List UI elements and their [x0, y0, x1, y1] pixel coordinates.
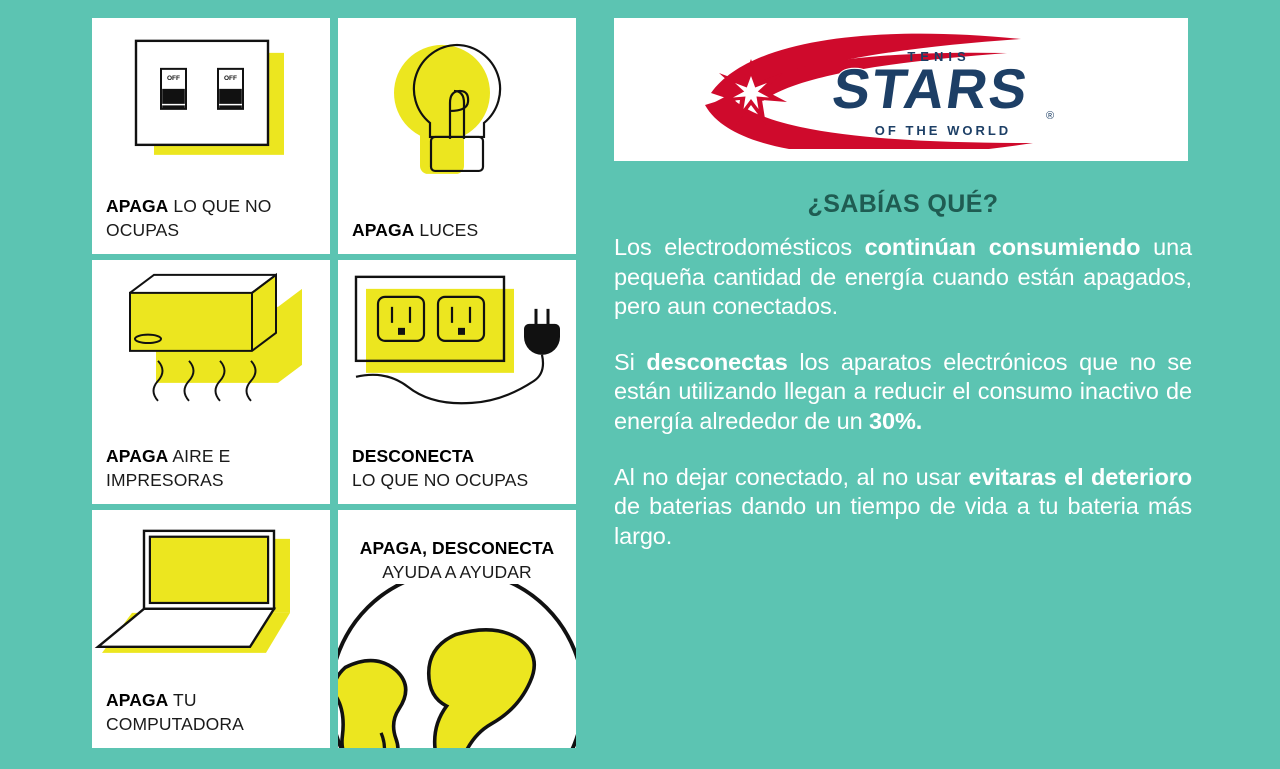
caption-rest: LO QUE NO OCUPAS — [352, 470, 528, 490]
card-caption: APAGA, DESCONECTAAYUDA A AYUDAR — [338, 510, 576, 584]
card-caption: APAGA LO QUE NO OCUPAS — [92, 194, 330, 254]
caption-rest: LUCES — [414, 220, 478, 240]
logo-registered-mark: ® — [1046, 110, 1054, 122]
card-caption: APAGA LUCES — [338, 218, 576, 254]
switch-off-label-1: OFF — [167, 75, 180, 82]
page-title: ¿SABÍAS QUÉ? — [614, 190, 1192, 219]
emphasis-text: desconectas — [646, 349, 787, 375]
paragraph-battery-life: Al no dejar conectado, al no usar evitar… — [614, 463, 1192, 552]
card-apaga-aire-e-impresoras: APAGA AIRE E IMPRESORAS — [92, 260, 330, 504]
air-conditioner-icon — [92, 260, 330, 444]
light-bulb-icon — [338, 18, 576, 218]
body-text: Si — [614, 349, 646, 375]
emphasis-text: continúan consumiendo — [865, 234, 1141, 260]
logo-main-text: STARS — [829, 57, 1033, 120]
caption-bold: APAGA — [106, 196, 168, 216]
card-apaga-lo-que-no-ocupas: OFF OFF APAGA LO QUE NO OCUPAS — [92, 18, 330, 254]
emphasis-text: 30%. — [869, 408, 922, 434]
card-caption: DESCONECTALO QUE NO OCUPAS — [338, 444, 576, 504]
caption-bold: APAGA — [352, 220, 414, 240]
card-desconecta-lo-que-no-ocupas: DESCONECTALO QUE NO OCUPAS — [338, 260, 576, 504]
info-panel: ¿SABÍAS QUÉ? Los electrodomésticos conti… — [614, 190, 1192, 551]
caption-bold: APAGA, DESCONECTA — [360, 538, 555, 558]
caption-bold: APAGA — [106, 446, 168, 466]
card-apaga-desconecta-ayuda: APAGA, DESCONECTAAYUDA A AYUDAR — [338, 510, 576, 748]
logo-panel: TENIS STARS ® OF THE WORLD — [614, 18, 1188, 161]
card-caption: APAGA TU COMPUTADORA — [92, 688, 330, 748]
caption-bold: DESCONECTA — [352, 446, 474, 466]
body-text: Los electrodomésticos — [614, 234, 865, 260]
paragraph-standby-consumption: Los electrodomésticos continúan consumie… — [614, 233, 1192, 322]
light-switch-plate-icon: OFF OFF — [92, 18, 330, 194]
tips-card-grid: OFF OFF APAGA LO QUE NO OCUPAS — [92, 18, 576, 748]
caption-bold: APAGA — [106, 690, 168, 710]
laptop-icon — [92, 510, 330, 688]
body-text: Al no dejar conectado, al no usar — [614, 464, 969, 490]
card-apaga-tu-computadora: APAGA TU COMPUTADORA — [92, 510, 330, 748]
logo-bottom-text: OF THE WORLD — [875, 123, 1011, 138]
globe-icon — [338, 584, 576, 748]
card-caption: APAGA AIRE E IMPRESORAS — [92, 444, 330, 504]
card-apaga-luces: APAGA LUCES — [338, 18, 576, 254]
power-outlet-plug-icon — [338, 260, 576, 444]
emphasis-text: evitaras el deterioro — [969, 464, 1192, 490]
paragraph-unplug-saves: Si desconectas los aparatos electrónicos… — [614, 348, 1192, 437]
tenis-stars-of-the-world-logo: TENIS STARS ® OF THE WORLD — [691, 31, 1111, 149]
body-text: de baterias dando un tiempo de vida a tu… — [614, 493, 1192, 549]
caption-rest: AYUDA A AYUDAR — [382, 562, 532, 582]
switch-off-label-2: OFF — [224, 75, 237, 82]
